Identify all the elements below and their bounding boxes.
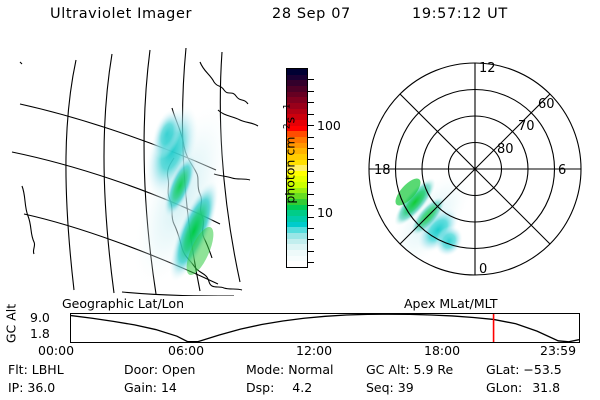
header: Ultraviolet Imager 28 Sep 07 19:57:12 UT [0, 6, 600, 30]
mlt-spokes [369, 63, 581, 275]
apex-polar-panel[interactable]: 12 6 0 18 60 70 80 [352, 42, 598, 298]
colorbar-title-mid: s [283, 117, 298, 124]
auroral-emission-polar [374, 158, 486, 281]
uvi-display: Ultraviolet Imager 28 Sep 07 19:57:12 UT [0, 0, 600, 400]
instrument-title: Ultraviolet Imager [50, 6, 192, 22]
mlt-label-0: 0 [479, 262, 487, 277]
colorbar-title-exp1: −2 [282, 123, 292, 136]
colorbar-axis-title: photon cm−2s−1 [282, 79, 297, 229]
strip-ytick-low: 1.8 [30, 326, 50, 341]
strip-xtick-4: 23:59 [540, 343, 576, 358]
status-gc-alt: GC Alt: 5.9 Re [366, 362, 453, 377]
geographic-panel-caption: Geographic Lat/Lon [62, 296, 184, 311]
strip-plot-area[interactable] [70, 313, 580, 343]
strip-ytick-high: 9.0 [30, 310, 50, 325]
status-dsp: Dsp: 4.2 [246, 380, 312, 395]
status-ip: IP: 36.0 [8, 380, 55, 395]
colorbar: 100 10 photon cm−2s−1 [264, 46, 356, 296]
mlt-label-6: 6 [558, 163, 566, 178]
strip-xtick-1: 06:00 [168, 343, 204, 358]
status-glat: GLat: −53.5 [486, 362, 562, 377]
colorbar-title-exp2: −1 [282, 104, 292, 117]
orbit-altitude-strip[interactable]: Geographic Lat/Lon Apex MLat/MLT GC Alt … [0, 296, 600, 358]
polar-dial-svg: 12 6 0 18 60 70 80 [352, 42, 598, 298]
orbit-altitude-svg [71, 314, 579, 342]
mlat-label-80: 80 [497, 142, 514, 157]
observation-date: 28 Sep 07 [272, 6, 351, 22]
status-seq: Seq: 39 [366, 380, 414, 395]
colorbar-label-10: 10 [317, 205, 333, 220]
status-door: Door: Open [124, 362, 195, 377]
strip-xtick-2: 12:00 [296, 343, 332, 358]
mlat-label-70: 70 [518, 119, 535, 134]
apex-panel-caption: Apex MLat/MLT [404, 296, 498, 311]
auroral-emission-geographic [115, 94, 250, 296]
strip-xtick-3: 18:00 [424, 343, 460, 358]
orbit-altitude-line [71, 314, 579, 342]
mlt-label-12: 12 [479, 61, 496, 76]
status-glon: GLon: 31.8 [486, 380, 560, 395]
status-gain: Gain: 14 [124, 380, 177, 395]
status-mode: Mode: Normal [246, 362, 334, 377]
geographic-map-svg [4, 46, 262, 296]
status-flt: Flt: LBHL [8, 362, 64, 377]
colorbar-title-main: photon cm [283, 137, 298, 204]
colorbar-label-100: 100 [317, 118, 341, 133]
observation-time: 19:57:12 UT [412, 6, 508, 22]
strip-xtick-0: 00:00 [38, 343, 74, 358]
mlat-label-60: 60 [538, 97, 555, 112]
geographic-map-panel[interactable] [4, 46, 262, 296]
status-block: Flt: LBHL Door: Open Mode: Normal GC Alt… [0, 362, 600, 400]
mlt-label-18: 18 [374, 163, 391, 178]
colorbar-band [287, 261, 307, 267]
colorbar-ticks [308, 68, 315, 268]
strip-y-axis-label: GC Alt [4, 296, 19, 352]
